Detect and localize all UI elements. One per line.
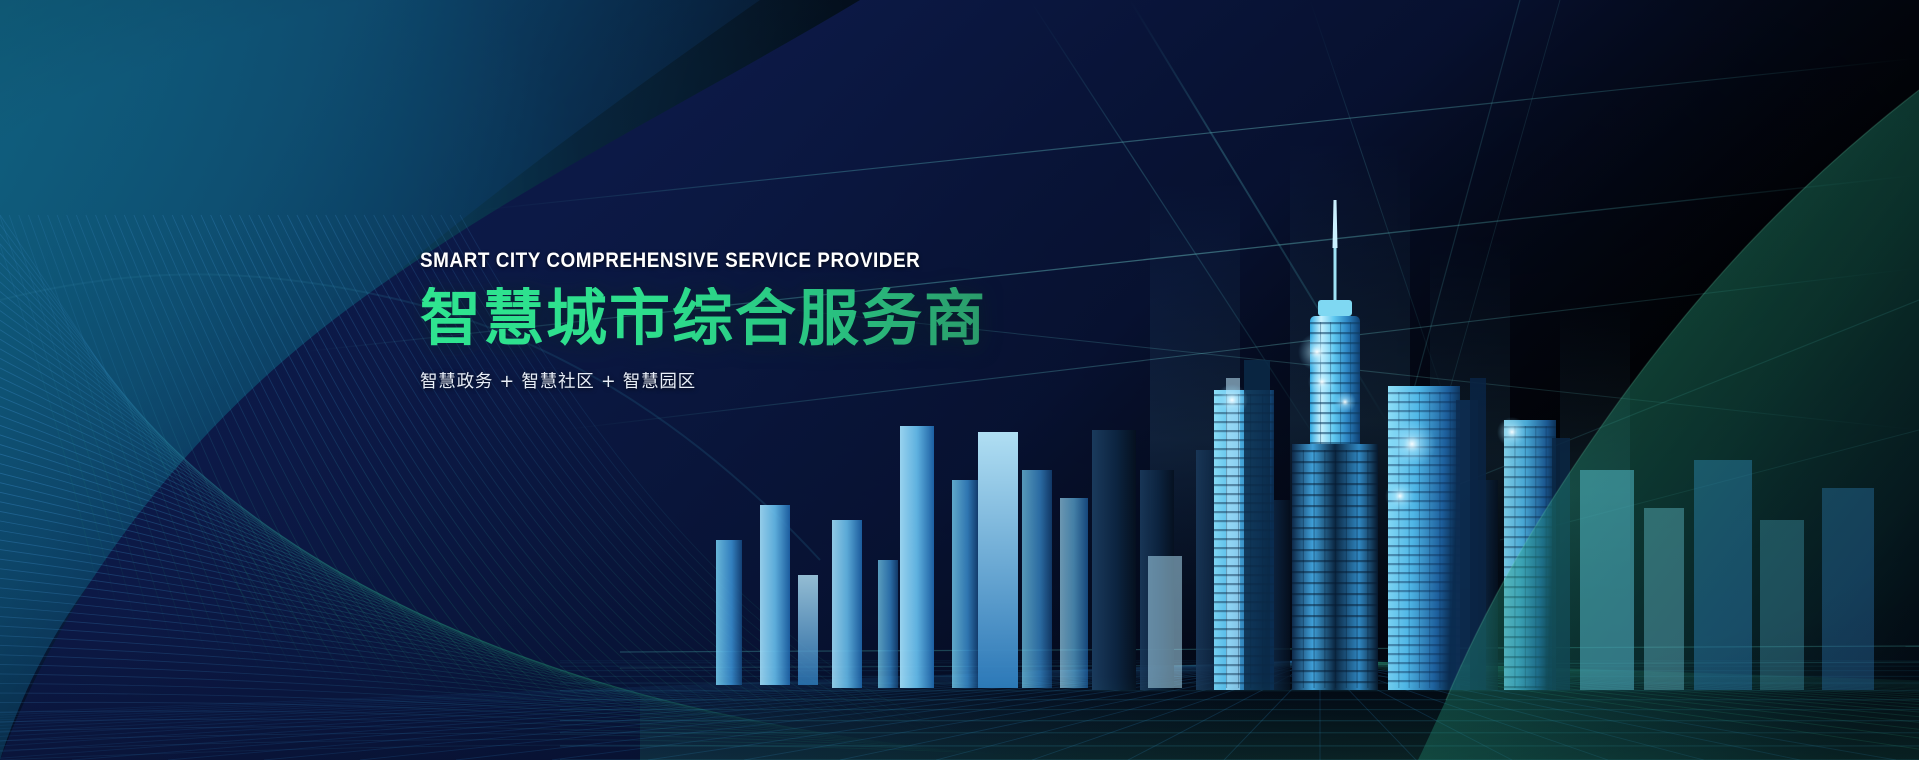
hero-banner: SMART CITY COMPREHENSIVE SERVICE PROVIDE…: [0, 0, 1919, 760]
page-title: 智慧城市综合服务商: [420, 287, 1180, 352]
eyebrow-tagline: SMART CITY COMPREHENSIVE SERVICE PROVIDE…: [420, 250, 1089, 272]
subtitle-services: 智慧政务 + 智慧社区 + 智慧园区: [420, 368, 1180, 393]
hero-copy-block: SMART CITY COMPREHENSIVE SERVICE PROVIDE…: [420, 250, 1180, 393]
